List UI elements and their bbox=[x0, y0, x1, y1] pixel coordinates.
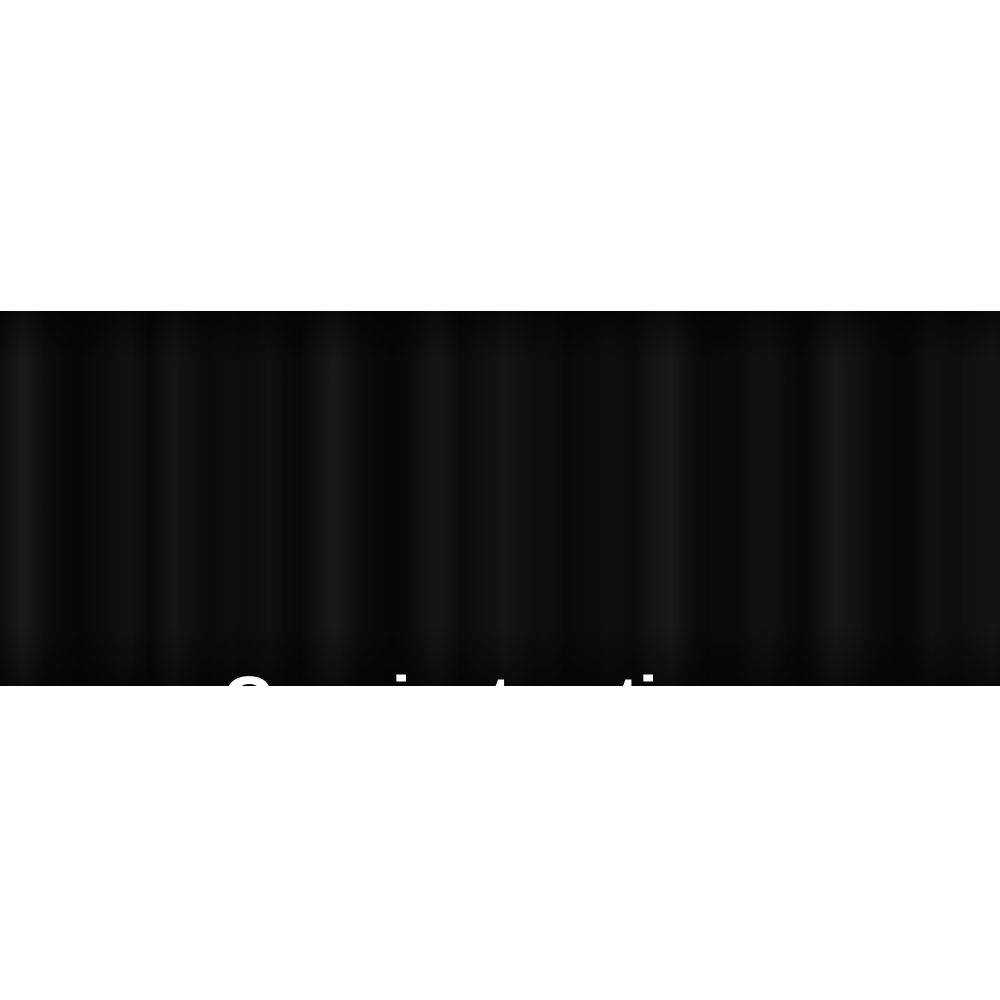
care-instructions-banner: Care instructions Machine washable cold bbox=[0, 311, 1000, 686]
banner-content: Care instructions Machine washable cold bbox=[0, 311, 1000, 686]
care-instructions-page: Care instructions Machine washable cold bbox=[0, 0, 1000, 1000]
page-title: Care instructions bbox=[0, 666, 1000, 686]
